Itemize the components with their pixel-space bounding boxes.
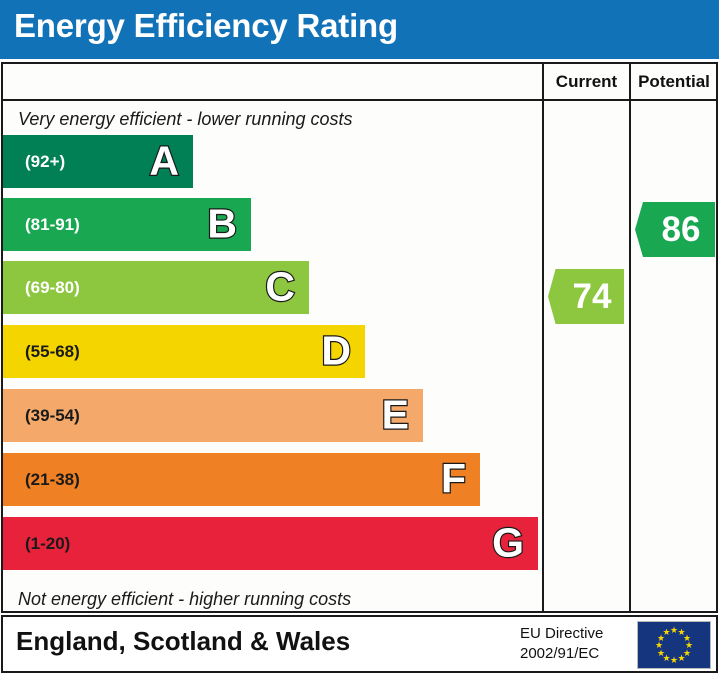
eu-flag-icon: ★★★★★★★★★★★★ [637, 621, 711, 669]
potential-rating-value: 86 [650, 212, 701, 247]
footer-directive-line1: EU Directive [520, 624, 630, 644]
footer-directive-line2: 2002/91/EC [520, 644, 630, 664]
band-row-d: (55-68) D [3, 325, 365, 378]
eu-flag-star: ★ [670, 656, 678, 664]
page-title: Energy Efficiency Rating [14, 7, 398, 45]
current-column-divider [542, 62, 544, 613]
band-range-c: (69-80) [25, 278, 80, 298]
caption-top: Very energy efficient - lower running co… [18, 109, 353, 130]
column-header-potential: Potential [631, 68, 717, 96]
eu-flag-star: ★ [663, 628, 671, 636]
band-range-d: (55-68) [25, 342, 80, 362]
potential-rating-arrow: 86 [635, 202, 715, 257]
potential-column-divider [629, 62, 631, 613]
band-row-c: (69-80) C [3, 261, 309, 314]
band-row-g: (1-20) G [3, 517, 538, 570]
band-letter-b: B [207, 203, 237, 244]
band-row-b: (81-91) B [3, 198, 251, 251]
band-letter-g: G [492, 522, 524, 563]
current-rating-arrow: 74 [548, 269, 624, 324]
band-letter-c: C [265, 266, 295, 307]
footer-directive: EU Directive 2002/91/EC [520, 624, 630, 665]
header-divider [1, 99, 718, 101]
band-row-e: (39-54) E [3, 389, 423, 442]
band-letter-e: E [382, 394, 409, 435]
chart-title-bar: Energy Efficiency Rating [0, 0, 719, 59]
band-letter-f: F [441, 458, 466, 499]
eu-flag-star: ★ [678, 654, 686, 662]
band-range-e: (39-54) [25, 406, 80, 426]
band-letter-d: D [321, 330, 351, 371]
band-row-f: (21-38) F [3, 453, 480, 506]
band-range-b: (81-91) [25, 215, 80, 235]
current-rating-value: 74 [561, 279, 612, 314]
column-header-current: Current [544, 68, 629, 96]
energy-efficiency-rating-chart: Energy Efficiency Rating Current Potenti… [0, 0, 719, 675]
footer-region-label: England, Scotland & Wales [16, 626, 350, 657]
band-range-f: (21-38) [25, 470, 80, 490]
band-range-g: (1-20) [25, 534, 70, 554]
caption-bottom: Not energy efficient - higher running co… [18, 589, 351, 610]
band-range-a: (92+) [25, 152, 65, 172]
band-row-a: (92+) A [3, 135, 193, 188]
band-letter-a: A [149, 140, 179, 181]
